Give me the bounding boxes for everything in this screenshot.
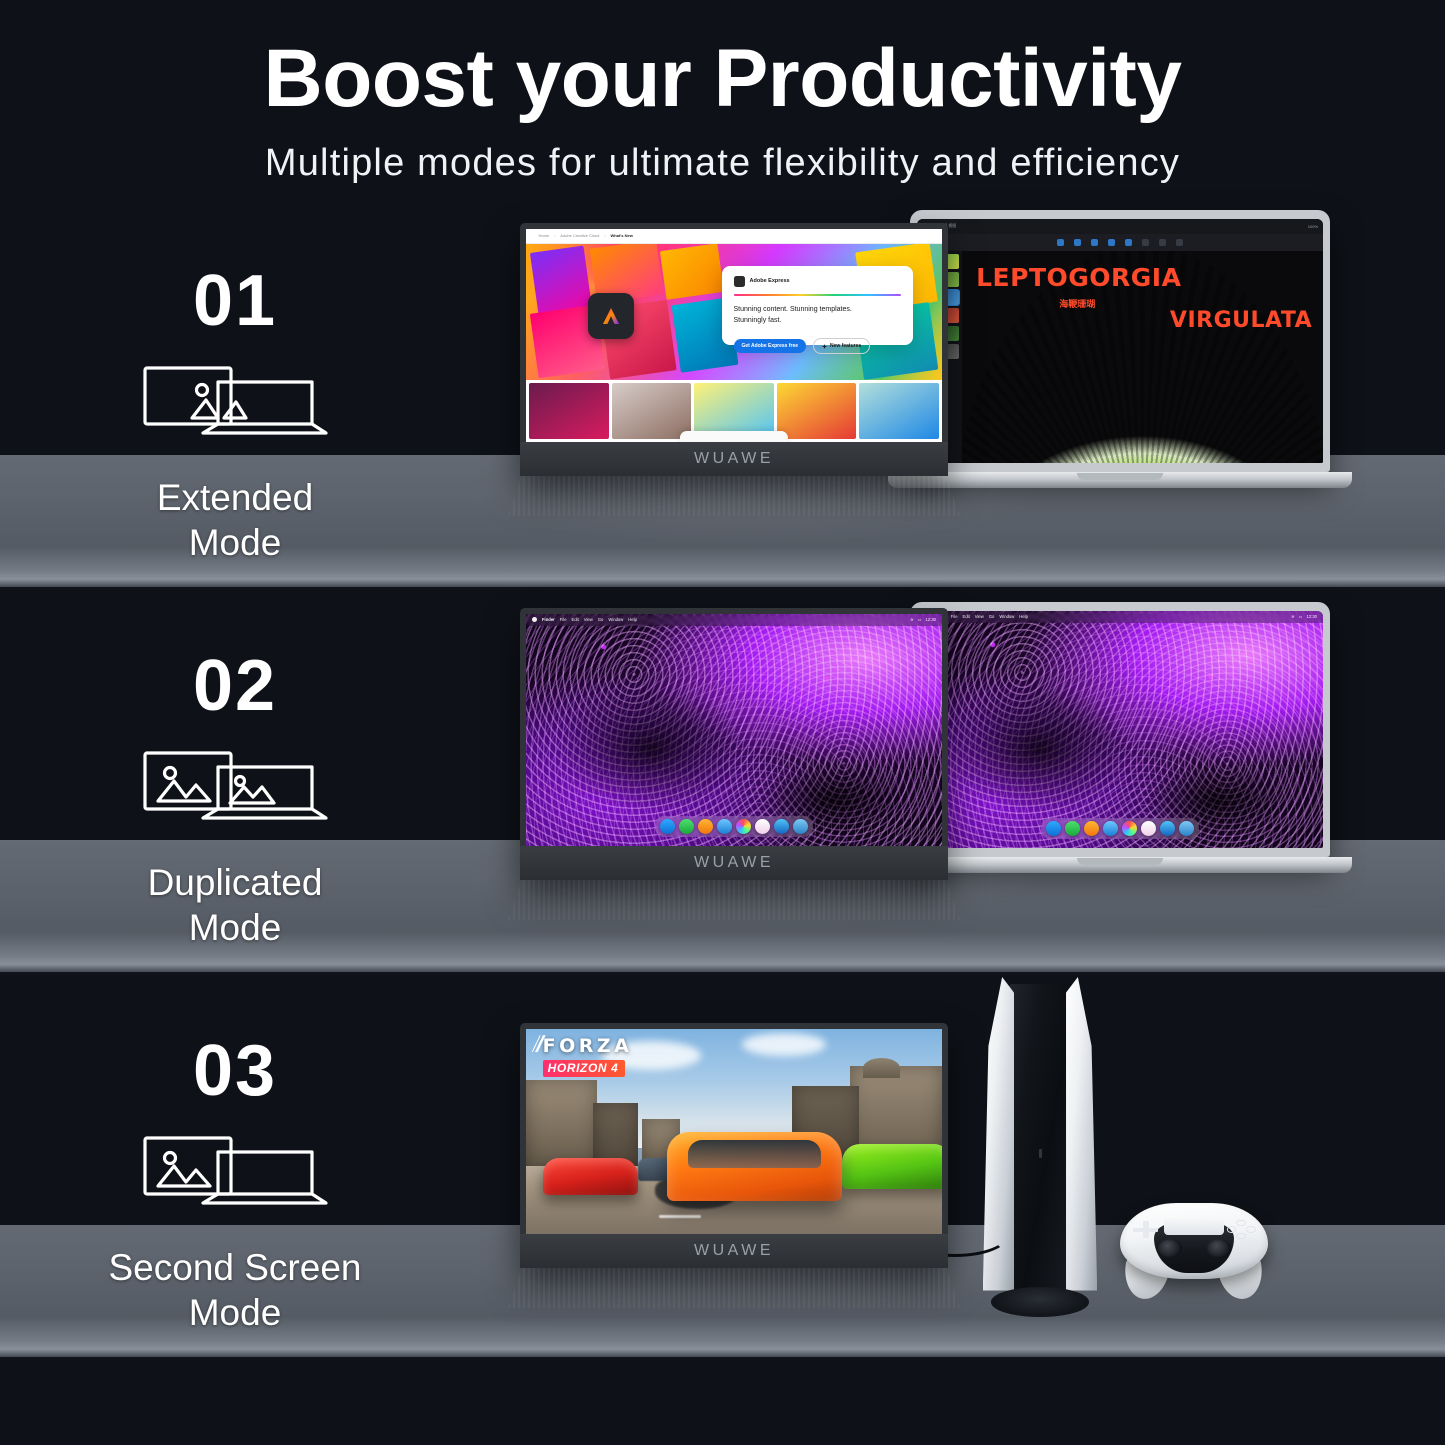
collage-tile bbox=[530, 246, 592, 316]
menubar-item[interactable]: Go bbox=[598, 617, 604, 622]
laptop-device: 文件 编辑 视图 100% bbox=[910, 210, 1330, 472]
menubar-item[interactable]: File bbox=[951, 614, 958, 619]
monitor-laptop-second-screen-icon bbox=[0, 1130, 470, 1215]
monitor-bezel: Home / Adobe Creative Cloud / What's New bbox=[520, 223, 948, 476]
mode-label: Duplicated Mode bbox=[0, 860, 470, 950]
forza-title: FORZA bbox=[543, 1035, 633, 1057]
monitor-laptop-extended-icon bbox=[0, 360, 470, 445]
color-icon[interactable] bbox=[1125, 239, 1132, 246]
laptop-device: Finder File Edit View Go Window Help ≋ bbox=[910, 602, 1330, 857]
device-stage: Finder File Edit View Go Window Help ≋ bbox=[470, 590, 1445, 975]
green-car bbox=[842, 1144, 942, 1189]
dpad-icon[interactable] bbox=[1133, 1221, 1158, 1238]
artwork-title-secondary: VIRGULATA bbox=[1170, 308, 1312, 333]
downloads-icon[interactable] bbox=[793, 819, 808, 834]
card-header: Adobe Express bbox=[734, 276, 901, 287]
photos-icon[interactable] bbox=[736, 819, 751, 834]
monitor-bezel: FORZA HORIZON 4 WUAWE bbox=[520, 1023, 948, 1268]
apple-logo-icon[interactable] bbox=[532, 617, 537, 622]
monitor-brand-label: WUAWE bbox=[694, 450, 774, 468]
ps5-side-panel bbox=[1066, 977, 1097, 1291]
crop-icon[interactable] bbox=[1108, 239, 1115, 246]
template-thumbnail[interactable] bbox=[859, 383, 939, 439]
photos-icon[interactable] bbox=[1122, 821, 1137, 836]
page-header: Boost your Productivity Multiple modes f… bbox=[0, 0, 1445, 205]
menubar-item[interactable]: View bbox=[975, 614, 984, 619]
laptop-base bbox=[888, 857, 1352, 873]
monitor-chin: WUAWE bbox=[520, 442, 948, 476]
card-headline-line2: Stunningly fast. bbox=[734, 316, 901, 327]
control-center-icon[interactable]: ⚏ bbox=[1299, 614, 1303, 619]
appstore-icon[interactable] bbox=[774, 819, 789, 834]
portable-monitor-device: Home / Adobe Creative Cloud / What's New bbox=[520, 223, 948, 476]
editor-toolbar[interactable] bbox=[917, 234, 1323, 251]
monitor-brand-label: WUAWE bbox=[694, 1242, 774, 1260]
adobe-express-logo bbox=[588, 293, 634, 339]
monitor-brand-label: WUAWE bbox=[694, 854, 774, 872]
page-title: Boost your Productivity bbox=[0, 0, 1445, 120]
adobe-express-icon bbox=[734, 276, 745, 287]
card-gradient-rule bbox=[734, 294, 901, 296]
editor-canvas: LEPTOGORGIA 海鞭珊瑚 VIRGULATA bbox=[962, 251, 1323, 463]
monitor-stand bbox=[508, 1268, 960, 1308]
monitor-screen[interactable]: Finder File Edit View Go Window Help ≋ ⚏ bbox=[526, 614, 942, 846]
mode-number: 01 bbox=[0, 260, 470, 342]
notes-icon[interactable] bbox=[698, 819, 713, 834]
forza-logo: FORZA HORIZON 4 bbox=[543, 1037, 633, 1077]
breadcrumb-separator: / bbox=[604, 233, 605, 238]
wifi-icon[interactable]: ≋ bbox=[1291, 614, 1295, 619]
template-thumbnail-strip[interactable] bbox=[526, 380, 942, 442]
card-headline-line1: Stunning content. Stunning templates. bbox=[734, 305, 901, 316]
sparkle-icon bbox=[822, 344, 827, 349]
finder-icon[interactable] bbox=[660, 819, 675, 834]
share-icon[interactable] bbox=[1142, 239, 1149, 246]
new-features-label: New features bbox=[830, 343, 861, 349]
monitor-screen[interactable]: FORZA HORIZON 4 bbox=[526, 1029, 942, 1234]
wifi-icon[interactable]: ≋ bbox=[910, 617, 914, 622]
monitor-bezel: Finder File Edit View Go Window Help ≋ ⚏ bbox=[520, 608, 948, 880]
menubar-item[interactable]: Window bbox=[999, 614, 1014, 619]
monitor-chin: WUAWE bbox=[520, 846, 948, 880]
orange-car bbox=[667, 1132, 842, 1202]
split-icon[interactable] bbox=[1074, 239, 1081, 246]
mode-label-column: 01 Extended Mode bbox=[0, 205, 470, 590]
scroll-handle[interactable] bbox=[680, 431, 788, 442]
monitor-stand bbox=[508, 880, 960, 920]
device-stage: FORZA HORIZON 4 WUAWE bbox=[470, 975, 1445, 1360]
mode-label-line1: Second Screen bbox=[0, 1245, 470, 1290]
laptop-notch bbox=[1077, 858, 1163, 865]
laptop-lid: 文件 编辑 视图 100% bbox=[910, 210, 1330, 472]
ps5-stand bbox=[991, 1287, 1090, 1317]
macos-desktop: Finder File Edit View Go Window Help ≋ bbox=[917, 611, 1323, 848]
mode-label-line1: Duplicated bbox=[0, 860, 470, 905]
menubar-item[interactable]: Finder bbox=[542, 617, 555, 622]
export-icon[interactable] bbox=[1159, 239, 1166, 246]
play-icon[interactable] bbox=[1057, 239, 1064, 246]
artwork-title-chinese: 海鞭珊瑚 bbox=[1059, 297, 1095, 310]
collage-tile bbox=[660, 244, 724, 300]
finder-icon[interactable] bbox=[1046, 821, 1061, 836]
video-editor-app: 文件 编辑 视图 100% bbox=[917, 219, 1323, 463]
red-car bbox=[543, 1158, 639, 1195]
clock-label: 12:30 bbox=[926, 617, 936, 622]
macos-menubar[interactable]: Finder File Edit View Go Window Help ≋ ⚏ bbox=[526, 614, 942, 626]
monitor-screen[interactable]: Home / Adobe Creative Cloud / What's New bbox=[526, 229, 942, 442]
battery-indicator: 100% bbox=[1308, 224, 1318, 229]
artwork-title-primary: LEPTOGORGIA bbox=[976, 263, 1181, 292]
notes-icon[interactable] bbox=[1084, 821, 1099, 836]
monitor-stand bbox=[508, 476, 960, 516]
template-thumbnail[interactable] bbox=[612, 383, 692, 439]
menubar-item[interactable]: Edit bbox=[963, 614, 970, 619]
menubar-item[interactable]: File bbox=[560, 617, 567, 622]
facetime-icon[interactable] bbox=[1065, 821, 1080, 836]
device-stage: 文件 编辑 视图 100% bbox=[470, 205, 1445, 590]
mode-row-duplicated: 02 Duplicated Mode bbox=[0, 590, 1445, 975]
music-icon[interactable] bbox=[1141, 821, 1156, 836]
clock-label: 12:30 bbox=[1307, 614, 1317, 619]
adobe-express-page: Home / Adobe Creative Cloud / What's New bbox=[526, 229, 942, 442]
mode-label-line2: Mode bbox=[0, 905, 470, 950]
breadcrumb-separator: / bbox=[554, 233, 555, 238]
car-windshield bbox=[688, 1140, 821, 1168]
mode-label-line2: Mode bbox=[0, 1290, 470, 1335]
mode-row-extended: 01 Extended Mode bbox=[0, 205, 1445, 590]
menubar-item[interactable]: Help bbox=[628, 617, 637, 622]
template-thumbnail[interactable] bbox=[529, 383, 609, 439]
menubar-item[interactable]: Go bbox=[989, 614, 995, 619]
macos-dock[interactable] bbox=[1041, 818, 1199, 839]
breadcrumb[interactable]: Home / Adobe Creative Cloud / What's New bbox=[526, 229, 942, 244]
menubar-item[interactable]: Edit bbox=[572, 617, 579, 622]
laptop-notch bbox=[1077, 473, 1163, 480]
playstation-5-console bbox=[975, 977, 1105, 1307]
ps5-body-core bbox=[1009, 984, 1071, 1291]
get-adobe-express-free-button[interactable]: Get Adobe Express free bbox=[734, 339, 807, 353]
dualsense-controller bbox=[1120, 1203, 1268, 1279]
mode-number: 03 bbox=[0, 1030, 470, 1112]
coral-shadow bbox=[526, 614, 942, 846]
mode-label: Second Screen Mode bbox=[0, 1245, 470, 1335]
new-features-button[interactable]: New features bbox=[813, 338, 870, 354]
mode-label-line2: Mode bbox=[0, 520, 470, 565]
horizon-subtitle: HORIZON 4 bbox=[543, 1060, 626, 1077]
menubar-item[interactable]: Window bbox=[608, 617, 623, 622]
adobe-promo-card: Adobe Express Stunning content. Stunning… bbox=[722, 266, 913, 345]
laptop-screen[interactable]: Finder File Edit View Go Window Help ≋ bbox=[917, 611, 1323, 848]
cloud bbox=[742, 1033, 825, 1056]
macos-menubar[interactable]: Finder File Edit View Go Window Help ≋ bbox=[917, 611, 1323, 623]
card-actions: Get Adobe Express free New features bbox=[734, 338, 901, 354]
menubar-item[interactable]: View bbox=[584, 617, 593, 622]
downloads-icon[interactable] bbox=[1179, 821, 1194, 836]
macos-desktop: Finder File Edit View Go Window Help ≋ ⚏ bbox=[526, 614, 942, 846]
monitor-laptop-duplicated-icon bbox=[0, 745, 470, 830]
ps5-usb-port bbox=[1039, 1149, 1042, 1158]
facetime-icon[interactable] bbox=[679, 819, 694, 834]
music-icon[interactable] bbox=[755, 819, 770, 834]
safari-icon[interactable] bbox=[717, 819, 732, 834]
coral-shadow bbox=[917, 611, 1323, 848]
control-center-icon[interactable]: ⚏ bbox=[918, 617, 922, 622]
laptop-base bbox=[888, 472, 1352, 488]
mode-label-line1: Extended bbox=[0, 475, 470, 520]
lane-marking bbox=[659, 1215, 701, 1218]
template-thumbnail[interactable] bbox=[777, 383, 857, 439]
breadcrumb-item[interactable]: Home bbox=[538, 233, 549, 238]
controller-touchpad[interactable] bbox=[1164, 1218, 1223, 1235]
settings-icon[interactable] bbox=[1176, 239, 1183, 246]
appstore-icon[interactable] bbox=[1160, 821, 1175, 836]
portable-monitor-device: Finder File Edit View Go Window Help ≋ ⚏ bbox=[520, 608, 948, 880]
mode-label-column: 02 Duplicated Mode bbox=[0, 590, 470, 975]
safari-icon[interactable] bbox=[1103, 821, 1118, 836]
face-buttons-icon[interactable] bbox=[1227, 1220, 1257, 1240]
laptop-screen[interactable]: 文件 编辑 视图 100% bbox=[917, 219, 1323, 463]
card-brand-name: Adobe Express bbox=[750, 278, 790, 284]
menubar-item[interactable]: Help bbox=[1019, 614, 1028, 619]
mode-label: Extended Mode bbox=[0, 475, 470, 565]
breadcrumb-item-active: What's New bbox=[611, 233, 633, 238]
monitor-chin: WUAWE bbox=[520, 1234, 948, 1268]
portable-monitor-device: FORZA HORIZON 4 WUAWE bbox=[520, 1023, 948, 1268]
editor-menubar: 文件 编辑 视图 100% bbox=[917, 219, 1323, 234]
building-dome bbox=[863, 1058, 900, 1079]
clock-icon[interactable] bbox=[1091, 239, 1098, 246]
breadcrumb-item[interactable]: Adobe Creative Cloud bbox=[560, 233, 599, 238]
mode-label-column: 03 Second Screen Mode bbox=[0, 975, 470, 1360]
mode-row-second-screen: 03 Second Screen Mode bbox=[0, 975, 1445, 1360]
mode-number: 02 bbox=[0, 645, 470, 727]
laptop-lid: Finder File Edit View Go Window Help ≋ bbox=[910, 602, 1330, 857]
macos-dock[interactable] bbox=[655, 816, 813, 837]
forza-horizon-4-game: FORZA HORIZON 4 bbox=[526, 1029, 942, 1234]
page-subtitle: Multiple modes for ultimate flexibility … bbox=[0, 120, 1445, 185]
adobe-template-collage: Adobe Express Stunning content. Stunning… bbox=[526, 244, 942, 380]
